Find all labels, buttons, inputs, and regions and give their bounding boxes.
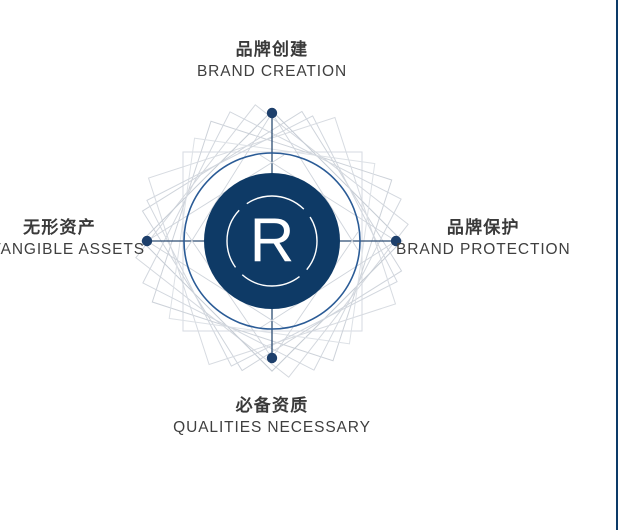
label-intangible-assets[interactable]: 无形资产 INTANGIBLE ASSETS: [0, 218, 145, 259]
label-qualities-necessary-en: QUALITIES NECESSARY: [173, 419, 371, 437]
label-qualities-necessary-cn: 必备资质: [173, 396, 371, 416]
label-brand-creation-cn: 品牌创建: [197, 40, 347, 60]
label-brand-protection-en: BRAND PROTECTION: [396, 241, 571, 259]
label-brand-creation[interactable]: 品牌创建 BRAND CREATION: [197, 40, 347, 81]
label-brand-creation-en: BRAND CREATION: [197, 63, 347, 81]
node-top-dot[interactable]: [267, 108, 277, 118]
label-intangible-assets-en: INTANGIBLE ASSETS: [0, 241, 145, 259]
right-edge-rule: [616, 0, 618, 530]
label-qualities-necessary[interactable]: 必备资质 QUALITIES NECESSARY: [173, 396, 371, 437]
label-brand-protection-cn: 品牌保护: [396, 218, 571, 238]
center-letter-r: R: [250, 207, 295, 276]
emblem-diagram: R 品牌创建 BRAND CREATION 品牌保护 BRAND PROTECT…: [0, 0, 621, 530]
label-brand-protection[interactable]: 品牌保护 BRAND PROTECTION: [396, 218, 571, 259]
node-bottom-dot[interactable]: [267, 353, 277, 363]
label-intangible-assets-cn: 无形资产: [0, 218, 145, 238]
